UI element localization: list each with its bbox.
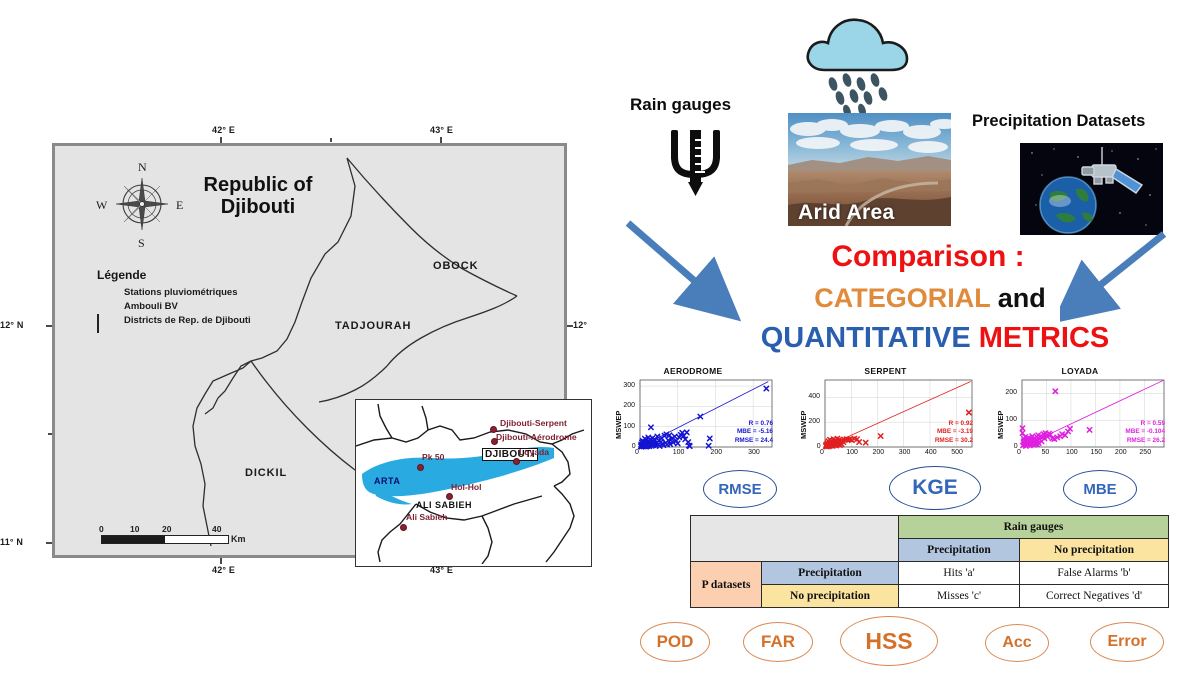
compass-west-label: W bbox=[96, 198, 107, 213]
legend-item-stations: Stations pluviométriques bbox=[97, 287, 282, 298]
ct-row-group-p-datasets: P datasets bbox=[691, 562, 762, 608]
x-tick-label: 300 bbox=[899, 449, 911, 456]
plot-stats: R = 0.59MBE = -0.104RMSE = 26.2 bbox=[1125, 420, 1165, 445]
badge-far[interactable]: FAR bbox=[743, 622, 813, 662]
y-tick-label: 400 bbox=[808, 393, 820, 400]
district-label-obock: OBOCK bbox=[433, 260, 478, 272]
legend-item-stations-label: Stations pluviométriques bbox=[124, 287, 238, 298]
rain-gauges-label: Rain gauges bbox=[630, 95, 731, 115]
ct-cell-correct-negatives: Correct Negatives 'd' bbox=[1020, 585, 1169, 608]
plot-ylabel: MSWEP bbox=[614, 411, 623, 439]
inset-station-label-djibouti-serpent: Djibouti-Serpent bbox=[500, 418, 567, 428]
inset-station-label-ali-sabieh: Ali Sabieh bbox=[406, 512, 448, 522]
x-tick-label: 100 bbox=[846, 449, 858, 456]
badge-error[interactable]: Error bbox=[1090, 622, 1164, 662]
map-lat-label-right-12: 12° bbox=[573, 320, 587, 330]
contingency-table: Rain gauges Precipitation No precipitati… bbox=[690, 515, 1169, 608]
y-tick-label: 200 bbox=[623, 402, 635, 409]
map-lon-label-42e: 42° E bbox=[212, 125, 235, 135]
map-tick-right-1 bbox=[567, 325, 573, 327]
x-tick-label: 200 bbox=[1115, 449, 1127, 456]
ct-col-group-rain-gauges: Rain gauges bbox=[899, 516, 1169, 539]
djibouti-map-panel: 42° E 43° E 12° N 11° N 12° 11° 42° E 43… bbox=[20, 125, 585, 585]
district-label-tadjourah: TADJOURAH bbox=[335, 320, 411, 332]
x-tick-label: 100 bbox=[673, 449, 685, 456]
map-title-line2: Djibouti bbox=[173, 196, 343, 218]
x-tick-label: 0 bbox=[820, 449, 824, 456]
scalebar-unit: Km bbox=[231, 534, 246, 544]
district-label-dickil: DICKIL bbox=[245, 467, 287, 479]
legend-title: Légende bbox=[97, 268, 282, 282]
and-word: and bbox=[998, 283, 1046, 313]
x-tick-label: 150 bbox=[1090, 449, 1102, 456]
map-legend: Légende Stations pluviométriques Ambouli… bbox=[97, 268, 282, 329]
map-scalebar: 0 10 20 40 Km bbox=[101, 524, 229, 544]
ct-row-header-precipitation: Precipitation bbox=[762, 562, 899, 585]
plot-stat-mbe: MBE = -5.16 bbox=[735, 428, 773, 436]
y-tick-label: 100 bbox=[1005, 416, 1017, 423]
scatter-plot-aerodrome: AERODROMEMSWEP01002003000100200300R = 0.… bbox=[608, 368, 778, 463]
ct-col-header-no-precipitation: No precipitation bbox=[1020, 539, 1169, 562]
x-tick-label: 200 bbox=[873, 449, 885, 456]
scalebar-tick-20: 20 bbox=[162, 524, 171, 534]
scatter-plot-loyada: LOYADAMSWEP0501001502002500100200R = 0.5… bbox=[990, 368, 1170, 463]
station-marker-djibouti-aerodrome bbox=[491, 438, 498, 445]
categorial-word: CATEGORIAL bbox=[814, 283, 990, 313]
y-tick-label: 200 bbox=[1005, 389, 1017, 396]
map-tick-top-2 bbox=[330, 138, 332, 142]
map-tick-bottom-1 bbox=[220, 558, 222, 564]
compass-north-label: N bbox=[138, 160, 147, 175]
legend-item-ambouli-label: Ambouli BV bbox=[124, 301, 178, 312]
plot-stat-r: R = 0.59 bbox=[1125, 420, 1165, 428]
x-tick-label: 0 bbox=[635, 449, 639, 456]
badge-rmse[interactable]: RMSE bbox=[703, 470, 777, 508]
plot-stat-mbe: MBE = -3.19 bbox=[935, 428, 973, 436]
inset-station-label-hol-hol: Hol-Hol bbox=[451, 482, 482, 492]
x-tick-label: 200 bbox=[710, 449, 722, 456]
comparison-line-quantitative: QUANTITATIVE METRICS bbox=[700, 322, 1170, 355]
badge-pod[interactable]: POD bbox=[640, 622, 710, 662]
blue-swatch-icon bbox=[97, 301, 117, 312]
map-title: Republic of Djibouti bbox=[173, 174, 343, 219]
plot-ylabel: MSWEP bbox=[799, 411, 808, 439]
plot-stat-rmse: RMSE = 24.4 bbox=[735, 437, 773, 445]
station-marker-pk50 bbox=[417, 464, 424, 471]
inset-district-label-ali-sabieh: ALI SABIEH bbox=[416, 500, 472, 510]
y-tick-label: 100 bbox=[623, 423, 635, 430]
arrow-rain-gauges-to-comparison bbox=[620, 215, 750, 325]
compass-south-label: S bbox=[138, 236, 145, 251]
scatter-plot-serpent: SERPENTMSWEP01002003004005000200400R = 0… bbox=[793, 368, 978, 463]
inset-station-label-pk50: Pk 50 bbox=[422, 452, 444, 462]
badge-kge[interactable]: KGE bbox=[889, 466, 981, 510]
y-tick-label: 300 bbox=[623, 382, 635, 389]
plot-stats: R = 0.76MBE = -5.16RMSE = 24.4 bbox=[735, 420, 773, 445]
scalebar-tick-0: 0 bbox=[99, 524, 104, 534]
x-tick-label: 250 bbox=[1139, 449, 1151, 456]
x-tick-label: 300 bbox=[748, 449, 760, 456]
plot-stat-r: R = 0.92 bbox=[935, 420, 973, 428]
map-inset: DJIBOUTI Djibouti-Serpent Djibouti-Aérod… bbox=[355, 399, 592, 567]
compass-rose-icon: N E S W bbox=[110, 172, 174, 236]
ct-col-header-precipitation: Precipitation bbox=[899, 539, 1020, 562]
arid-area-photo: Arid Area bbox=[788, 113, 951, 226]
x-tick-label: 500 bbox=[951, 449, 963, 456]
scalebar-tick-10: 10 bbox=[130, 524, 139, 534]
station-dot-icon bbox=[97, 287, 117, 298]
badge-acc[interactable]: Acc bbox=[985, 624, 1049, 662]
map-lat-label-11n: 11° N bbox=[0, 537, 23, 547]
inset-district-label-arta: ARTA bbox=[374, 476, 400, 486]
outline-box-icon bbox=[97, 315, 117, 326]
inset-station-label-djibouti-aerodrome: Djibouti-Aérodrome bbox=[496, 432, 577, 442]
x-tick-label: 400 bbox=[925, 449, 937, 456]
badge-hss[interactable]: HSS bbox=[840, 616, 938, 666]
plot-ylabel: MSWEP bbox=[996, 411, 1005, 439]
table-row: P datasets Precipitation Hits 'a' False … bbox=[691, 562, 1169, 585]
comparison-line-categorial: CATEGORIAL and bbox=[760, 283, 1100, 314]
rain-gauge-icon bbox=[665, 126, 727, 203]
table-row: No precipitation Misses 'c' Correct Nega… bbox=[691, 585, 1169, 608]
comparison-title: Comparison : bbox=[798, 240, 1058, 274]
scalebar-tick-40: 40 bbox=[212, 524, 221, 534]
map-lon-label-bottom-42e: 42° E bbox=[212, 565, 235, 575]
inset-station-label-loyada: Loyada bbox=[519, 447, 549, 457]
map-lat-label-12n: 12° N bbox=[0, 320, 24, 330]
plot-title: LOYADA bbox=[990, 366, 1170, 376]
ct-row-header-no-precipitation: No precipitation bbox=[762, 585, 899, 608]
x-tick-label: 100 bbox=[1066, 449, 1078, 456]
map-title-line1: Republic of bbox=[173, 174, 343, 196]
station-marker-ali-sabieh bbox=[400, 524, 407, 531]
x-tick-label: 50 bbox=[1041, 449, 1049, 456]
ct-cell-misses: Misses 'c' bbox=[899, 585, 1020, 608]
legend-item-districts-label: Districts de Rep. de Djibouti bbox=[124, 315, 251, 326]
y-tick-label: 0 bbox=[1014, 443, 1018, 450]
plot-title: AERODROME bbox=[608, 366, 778, 376]
plot-title: SERPENT bbox=[793, 366, 978, 376]
y-tick-label: 0 bbox=[817, 443, 821, 450]
plot-stat-rmse: RMSE = 30.2 bbox=[935, 437, 973, 445]
arid-area-caption: Arid Area bbox=[798, 201, 894, 224]
quantitative-word: QUANTITATIVE bbox=[761, 322, 971, 354]
plot-stats: R = 0.92MBE = -3.19RMSE = 30.2 bbox=[935, 420, 973, 445]
station-marker-loyada bbox=[513, 458, 520, 465]
x-tick-label: 0 bbox=[1017, 449, 1021, 456]
legend-item-districts: Districts de Rep. de Djibouti bbox=[97, 315, 282, 326]
legend-item-ambouli: Ambouli BV bbox=[97, 301, 282, 312]
precipitation-datasets-label: Precipitation Datasets bbox=[972, 112, 1145, 131]
y-tick-label: 200 bbox=[808, 418, 820, 425]
map-lon-label-43e: 43° E bbox=[430, 125, 453, 135]
table-row: Rain gauges bbox=[691, 516, 1169, 539]
station-marker-hol-hol bbox=[446, 493, 453, 500]
y-tick-label: 0 bbox=[632, 443, 636, 450]
ct-cell-hits: Hits 'a' bbox=[899, 562, 1020, 585]
plot-stat-rmse: RMSE = 26.2 bbox=[1125, 437, 1165, 445]
map-frame: N E S W Republic of Djibouti Légende Sta… bbox=[52, 143, 567, 558]
rain-cloud-icon bbox=[795, 8, 925, 123]
satellite-photo bbox=[1020, 143, 1163, 235]
station-marker-djibouti-serpent bbox=[490, 426, 497, 433]
badge-mbe[interactable]: MBE bbox=[1063, 470, 1137, 508]
plot-stat-r: R = 0.76 bbox=[735, 420, 773, 428]
plot-stat-mbe: MBE = -0.104 bbox=[1125, 428, 1165, 436]
metrics-word: METRICS bbox=[979, 322, 1110, 354]
ct-corner-blank bbox=[691, 516, 899, 562]
ct-cell-false-alarms: False Alarms 'b' bbox=[1020, 562, 1169, 585]
